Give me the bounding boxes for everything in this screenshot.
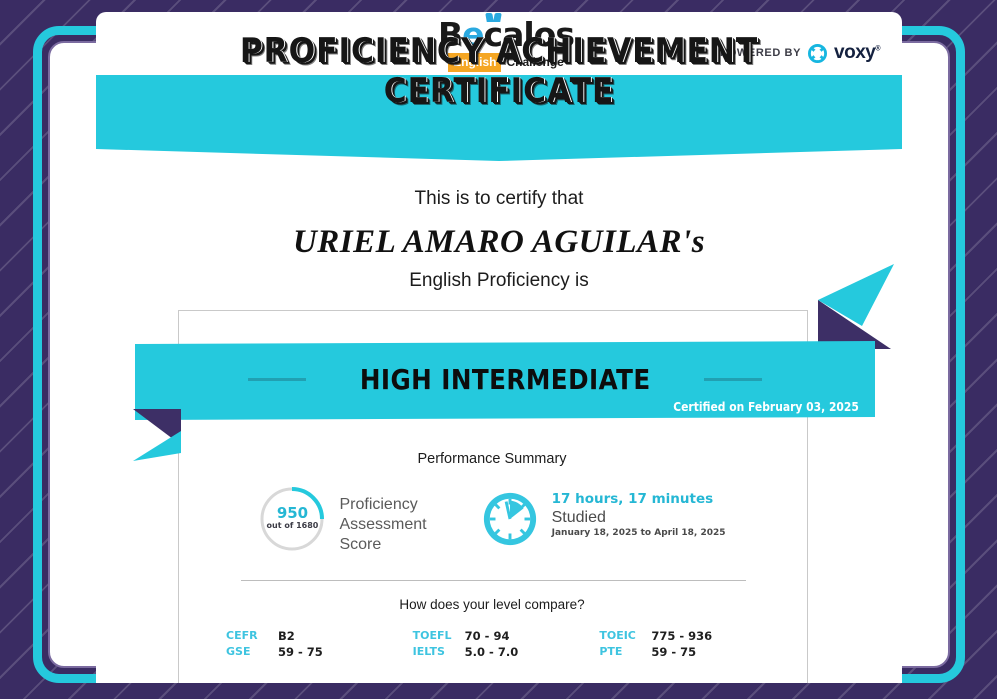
level-ribbon: HIGH INTERMEDIATE Certified on February … [96,334,902,444]
page-title: PROFICIENCY ACHIEVEMENT CERTIFICATE [128,31,870,111]
certify-proficiency-line: English Proficiency is [96,270,902,292]
compare-key: TOEIC [599,628,651,644]
compare-key: PTE [599,644,651,660]
score-label: Proficiency Assessment Score [339,485,426,555]
study-hours: 17 hours, 17 minutes [552,491,726,507]
study-date-range: January 18, 2025 to April 18, 2025 [552,528,726,538]
compare-key: GSE [226,644,278,660]
level-ribbon-band: HIGH INTERMEDIATE Certified on February … [135,341,875,420]
study-time-item: 17 hours, 17 minutes Studied January 18,… [481,485,726,548]
compare-key: CEFR [226,628,278,644]
book-icon [486,13,502,22]
compare-key: IELTS [413,644,465,660]
compare-keys: CEFR GSE [226,628,278,668]
score-label-line2: Assessment [339,515,426,535]
compare-value: 5.0 - 7.0 [465,644,545,660]
score-item: 950 out of 1680 Proficiency Assessment S… [258,485,426,555]
level-name: HIGH INTERMEDIATE [360,363,651,396]
compare-column: CEFR GSE B2 59 - 75 [226,628,413,668]
compare-value: 70 - 94 [465,628,545,644]
ribbon-dash-right [704,378,762,381]
student-name: URIEL AMARO AGUILAR's [96,224,902,261]
compare-title: How does your level compare? [178,597,806,612]
compare-column: TOEFL IELTS 70 - 94 5.0 - 7.0 [413,628,600,668]
performance-summary-row: 950 out of 1680 Proficiency Assessment S… [178,485,806,565]
compare-values: 70 - 94 5.0 - 7.0 [465,628,545,668]
score-value: 950 [258,504,326,522]
certify-intro-line: This is to certify that [96,188,902,210]
ribbon-dash-left [248,378,306,381]
compare-column: TOEIC PTE 775 - 936 59 - 75 [599,628,786,668]
section-divider [241,580,746,581]
ribbon-fold-right [806,264,902,349]
study-time-block: 17 hours, 17 minutes Studied January 18,… [552,485,726,538]
performance-summary-title: Performance Summary [178,451,806,467]
compare-keys: TOEFL IELTS [413,628,465,668]
certificate-card: Becalos EnglishChallenge POWERED BY voxy… [96,12,902,683]
compare-value: B2 [278,628,358,644]
compare-value: 775 - 936 [651,628,731,644]
study-label: Studied [552,507,726,528]
clock-icon [481,490,539,548]
compare-values: 775 - 936 59 - 75 [651,628,731,668]
compare-key: TOEFL [413,628,465,644]
score-label-line1: Proficiency [339,495,426,515]
compare-value: 59 - 75 [651,644,731,660]
score-ring: 950 out of 1680 [258,485,326,553]
compare-keys: TOEIC PTE [599,628,651,668]
score-label-line3: Score [339,535,426,555]
score-out-of: out of 1680 [258,521,326,530]
compare-value: 59 - 75 [278,644,358,660]
certified-on-date: Certified on February 03, 2025 [673,399,859,414]
level-row: HIGH INTERMEDIATE [135,363,875,396]
compare-values: B2 59 - 75 [278,628,358,668]
compare-grid: CEFR GSE B2 59 - 75 TOEFL IELTS 70 - 94 … [226,628,786,668]
